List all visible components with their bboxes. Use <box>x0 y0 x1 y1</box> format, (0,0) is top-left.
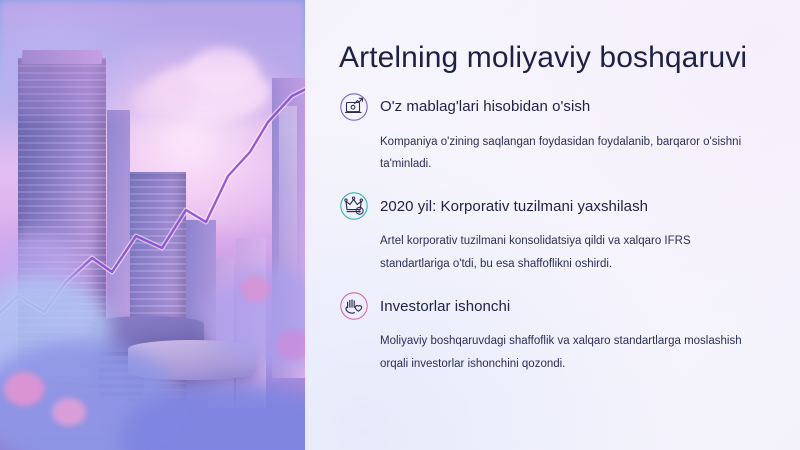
feature-list: O'z mablag'lari hisobidan o'sish Kompani… <box>339 92 766 376</box>
list-item-body: Moliyaviy boshqaruvdagi shaffoflik va xa… <box>380 330 752 375</box>
blossom-bokeh <box>240 276 270 302</box>
crown-icon: $ <box>339 191 369 221</box>
svg-text:$: $ <box>358 209 361 214</box>
list-item: O'z mablag'lari hisobidan o'sish Kompani… <box>339 92 766 176</box>
content-panel: Artelning moliyaviy boshqaruvi <box>305 0 800 450</box>
slide: Artelning moliyaviy boshqaruvi <box>0 0 800 450</box>
list-item-body: Artel korporativ tuzilmani konsolidatsiy… <box>380 230 752 275</box>
list-item: Investorlar ishonchi Moliyaviy boshqaruv… <box>339 291 766 375</box>
list-item-header: $ 2020 yil: Korporativ tuzilmani yaxshil… <box>339 191 766 221</box>
chart-growth-icon <box>339 92 369 122</box>
list-item-title: 2020 yil: Korporativ tuzilmani yaxshilas… <box>380 198 648 215</box>
list-item-body: Kompaniya o'zining saqlangan foydasidan … <box>380 131 752 176</box>
blossom-bokeh <box>276 330 305 360</box>
list-item-title: O'z mablag'lari hisobidan o'sish <box>380 98 590 115</box>
blossom-bokeh <box>52 398 86 426</box>
hand-heart-icon <box>339 291 369 321</box>
list-item-header: Investorlar ishonchi <box>339 291 766 321</box>
page-title: Artelning moliyaviy boshqaruvi <box>339 38 766 78</box>
list-item-title: Investorlar ishonchi <box>380 298 510 315</box>
list-item: $ 2020 yil: Korporativ tuzilmani yaxshil… <box>339 191 766 275</box>
blossom-bokeh <box>4 372 44 406</box>
list-item-header: O'z mablag'lari hisobidan o'sish <box>339 92 766 122</box>
hero-image-panel <box>0 0 305 450</box>
